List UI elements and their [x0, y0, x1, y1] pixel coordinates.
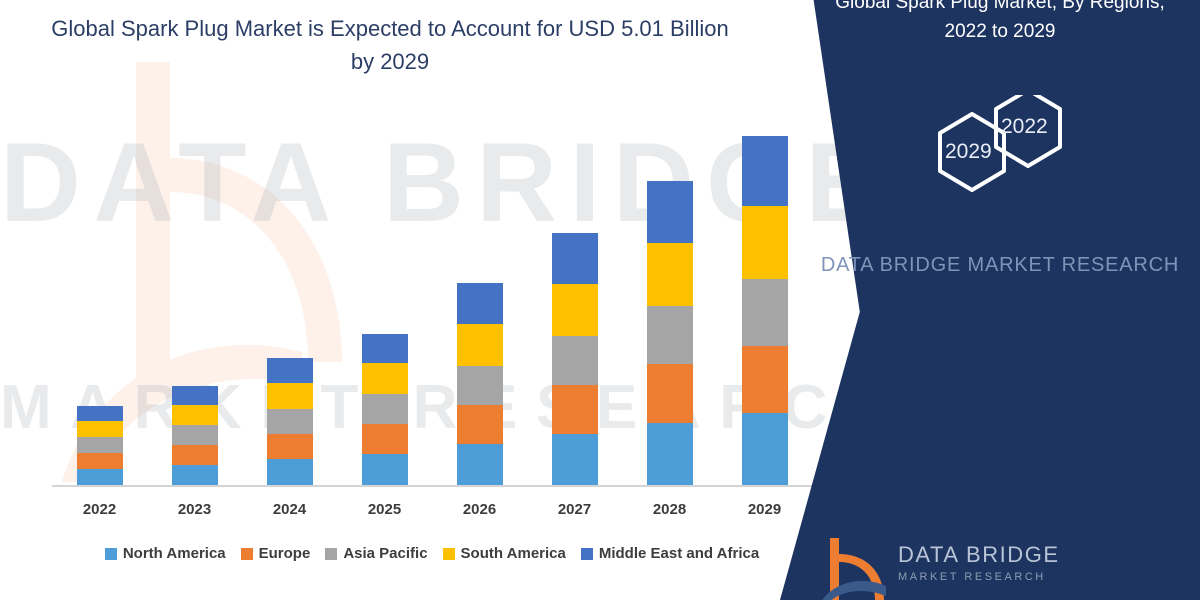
bar-segment [647, 243, 693, 306]
legend-item[interactable]: Asia Pacific [325, 545, 427, 562]
legend-swatch-icon [443, 548, 455, 560]
bar-segment [267, 358, 313, 383]
legend-swatch-icon [581, 548, 593, 560]
bar-segment [742, 413, 788, 485]
bar-segment [647, 423, 693, 485]
legend-label: Asia Pacific [343, 545, 427, 562]
legend-item[interactable]: Middle East and Africa [581, 545, 759, 562]
bar-segment [267, 409, 313, 434]
hexagon-label-2029: 2029 [945, 140, 992, 164]
x-axis-line [52, 485, 812, 487]
bar-group [340, 334, 430, 485]
x-axis-tick-label: 2027 [530, 501, 620, 518]
bar-segment [362, 334, 408, 363]
x-axis-tick-label: 2025 [340, 501, 430, 518]
bar-group [530, 233, 620, 485]
bar-segment [77, 421, 123, 437]
bar-segment [647, 181, 693, 243]
bar-segment [172, 425, 218, 445]
chart-legend: North AmericaEuropeAsia PacificSouth Ame… [52, 545, 812, 562]
bar-group [720, 136, 810, 485]
bar-segment [457, 444, 503, 485]
bar-segment [77, 469, 123, 485]
x-axis-tick-label: 2023 [150, 501, 240, 518]
bar-segment [552, 233, 598, 284]
bar-group [435, 283, 525, 485]
bar-series-container [52, 112, 812, 485]
stacked-bar [172, 386, 218, 485]
legend-swatch-icon [325, 548, 337, 560]
plot-area [52, 112, 812, 487]
bar-segment [457, 283, 503, 324]
chart-title: Global Spark Plug Market is Expected to … [40, 12, 740, 78]
bar-segment [77, 406, 123, 421]
bar-segment [172, 405, 218, 425]
bar-segment [647, 306, 693, 364]
chart-panel: DATA BRIDGE MARKET RESEARCH Global Spark… [0, 0, 880, 600]
bar-group [625, 181, 715, 485]
bar-segment [742, 206, 788, 279]
legend-swatch-icon [241, 548, 253, 560]
hexagon-label-2022: 2022 [1001, 115, 1048, 139]
legend-label: Europe [259, 545, 311, 562]
x-axis-tick-label: 2026 [435, 501, 525, 518]
legend-item[interactable]: Europe [241, 545, 311, 562]
stacked-bar [742, 136, 788, 485]
x-axis-tick-label: 2022 [55, 501, 145, 518]
bar-segment [172, 386, 218, 405]
bar-group [245, 358, 335, 485]
bar-group [150, 386, 240, 485]
stacked-bar [647, 181, 693, 485]
bar-segment [552, 434, 598, 485]
x-axis-labels: 20222023202420252026202720282029 [52, 501, 812, 518]
x-axis-tick-label: 2024 [245, 501, 335, 518]
legend-label: South America [461, 545, 566, 562]
bar-segment [172, 465, 218, 485]
bar-segment [552, 284, 598, 336]
bar-segment [362, 424, 408, 454]
bar-segment [647, 364, 693, 423]
bar-segment [172, 445, 218, 465]
bar-segment [552, 336, 598, 385]
bar-segment [77, 453, 123, 469]
legend-item[interactable]: North America [105, 545, 226, 562]
stacked-bar [362, 334, 408, 485]
legend-item[interactable]: South America [443, 545, 566, 562]
x-axis-tick-label: 2028 [625, 501, 715, 518]
bar-segment [362, 363, 408, 394]
brand-logo-text: DATA BRIDGE [898, 542, 1060, 568]
hexagon-2022-shape [996, 95, 1060, 166]
bar-segment [457, 366, 503, 405]
stacked-bar [457, 283, 503, 485]
stacked-bar [267, 358, 313, 485]
bar-segment [742, 346, 788, 413]
bar-segment [457, 405, 503, 444]
infographic-root: DATA BRIDGE MARKET RESEARCH Global Spark… [0, 0, 1200, 600]
bar-segment [552, 385, 598, 434]
legend-swatch-icon [105, 548, 117, 560]
legend-label: Middle East and Africa [599, 545, 759, 562]
bar-segment [77, 437, 123, 453]
legend-label: North America [123, 545, 226, 562]
bar-segment [742, 279, 788, 346]
hexagon-2029-shape [940, 114, 1004, 190]
stacked-bar [552, 233, 598, 485]
bar-segment [742, 136, 788, 206]
brand-logo-subtext: MARKET RESEARCH [898, 571, 1046, 583]
bar-segment [362, 454, 408, 485]
x-axis-tick-label: 2029 [720, 501, 810, 518]
bar-segment [267, 434, 313, 459]
bar-segment [362, 394, 408, 424]
stacked-bar [77, 406, 123, 485]
bar-segment [267, 383, 313, 409]
bar-group [55, 406, 145, 485]
bar-segment [267, 459, 313, 485]
bar-segment [457, 324, 503, 366]
